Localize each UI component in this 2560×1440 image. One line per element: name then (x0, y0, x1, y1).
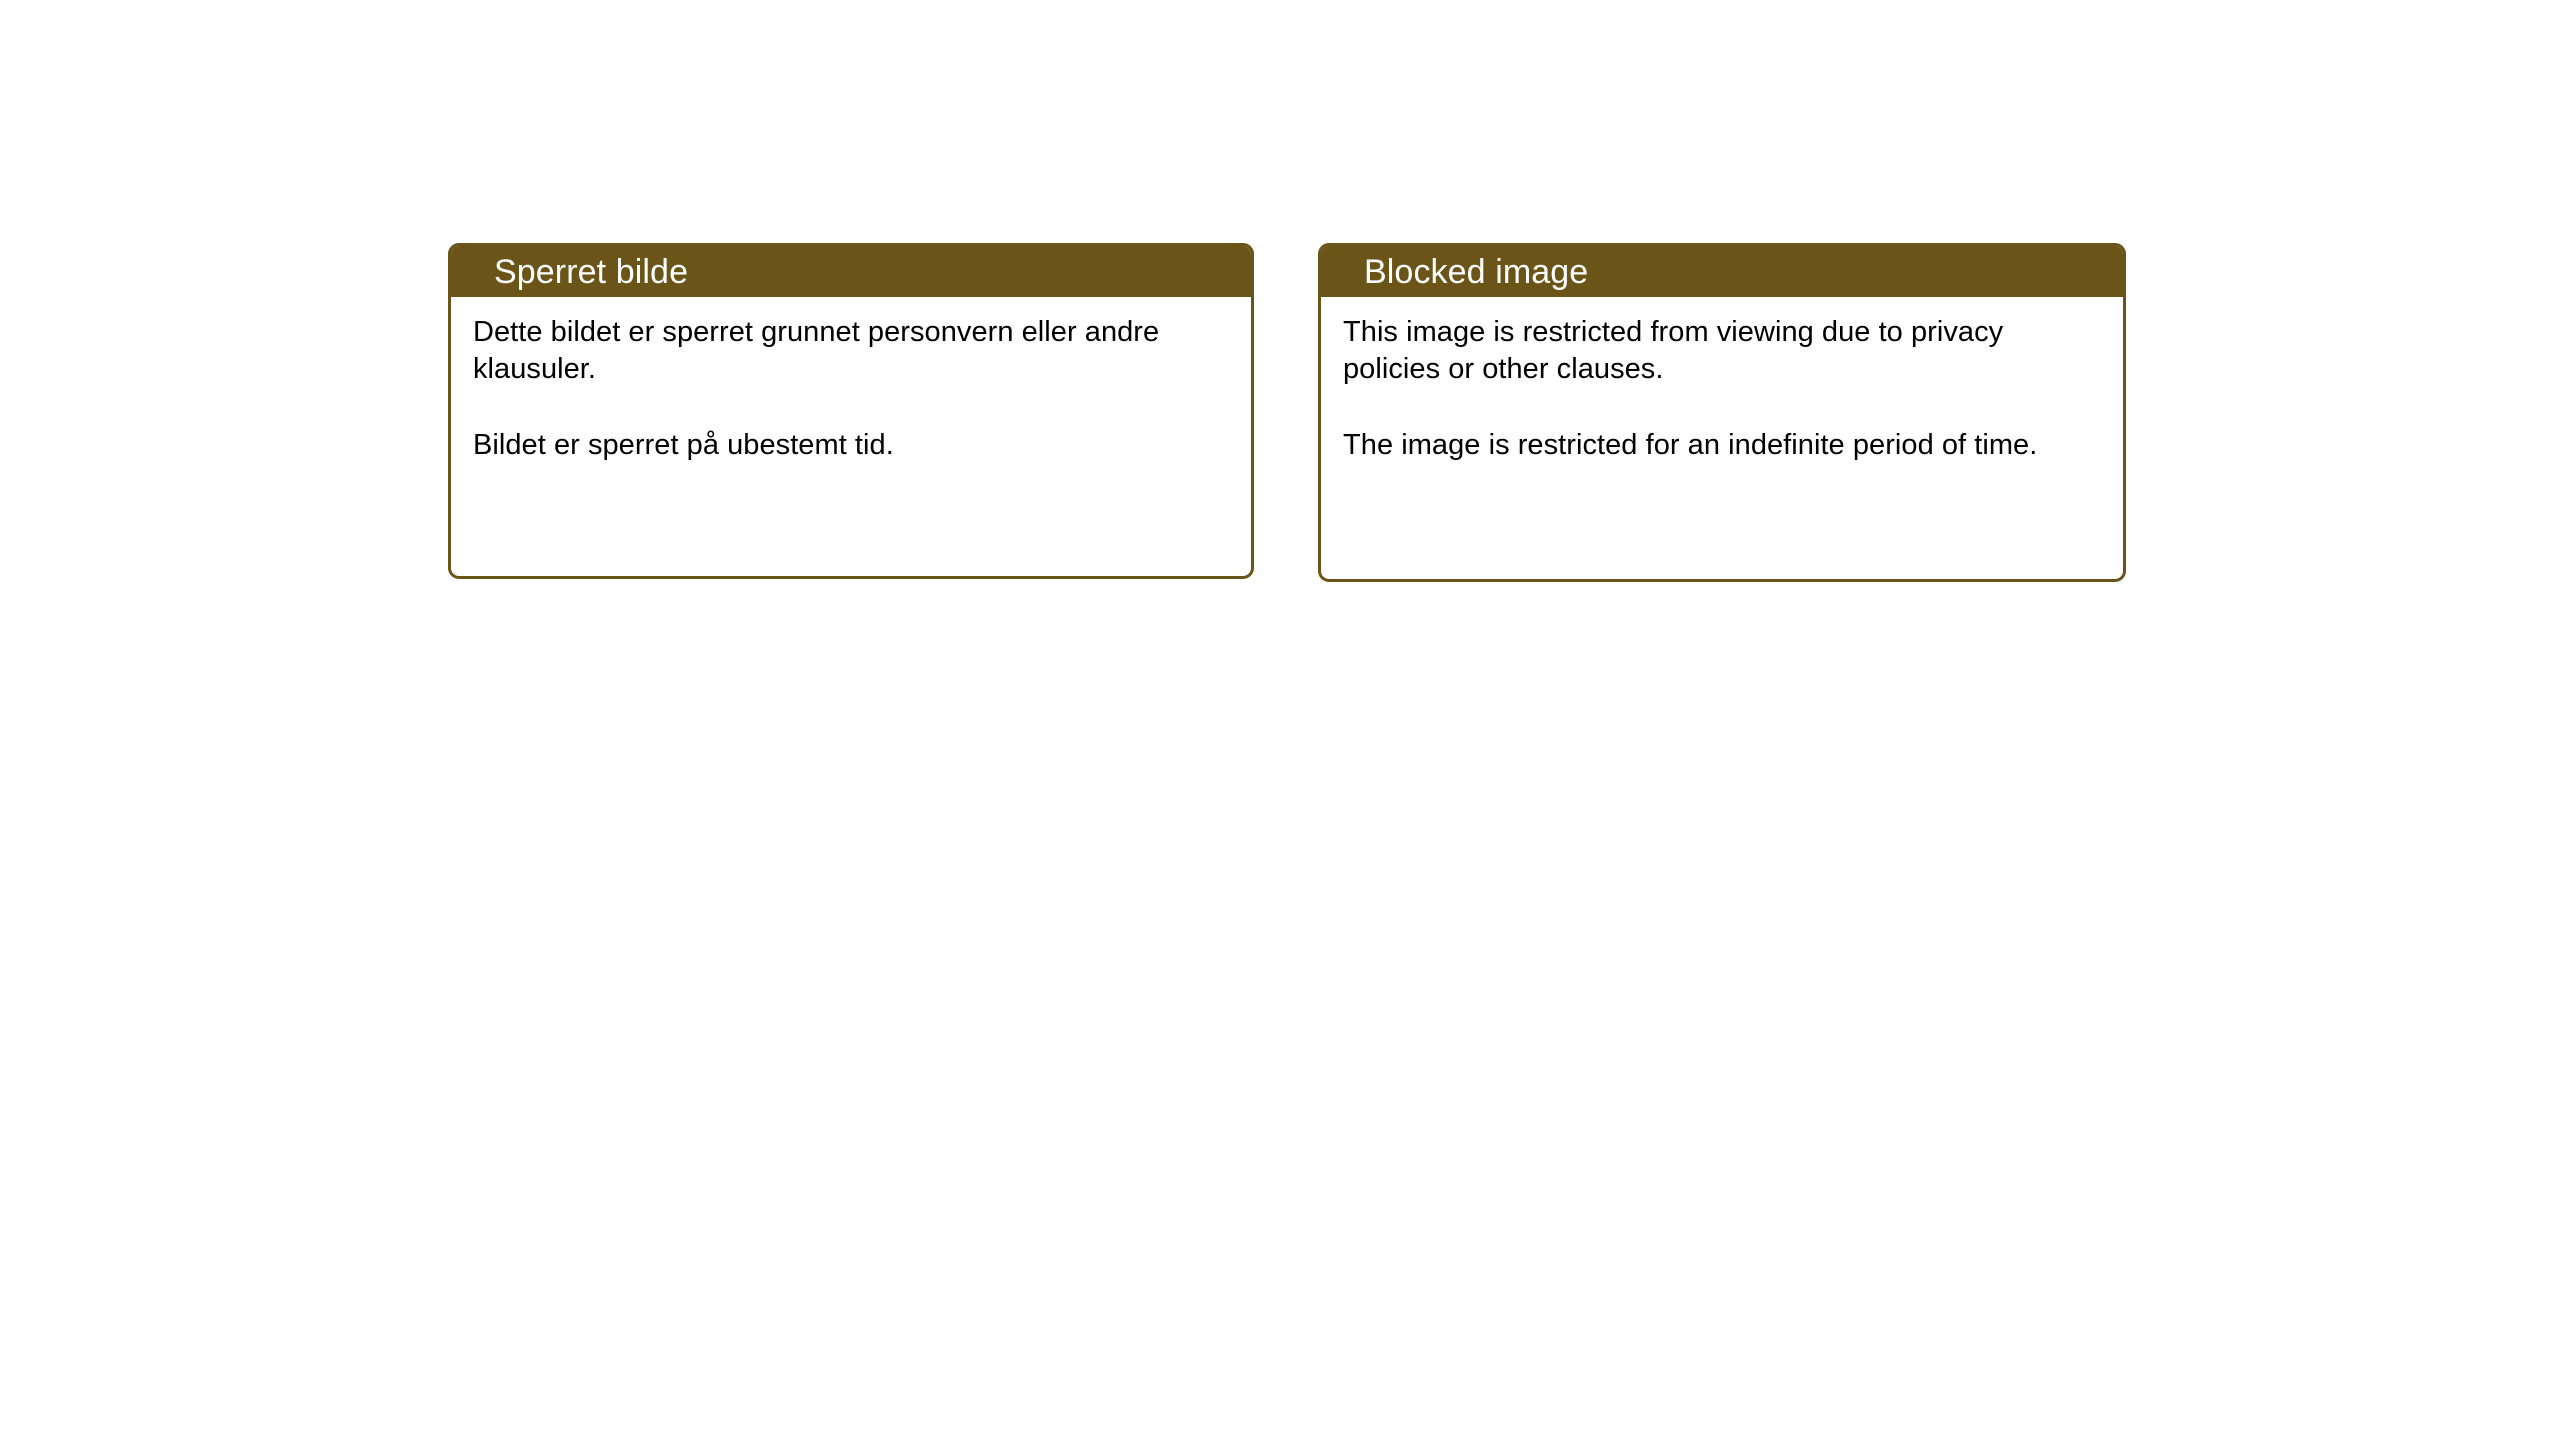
blocked-image-notice-no: Sperret bilde Dette bildet er sperret gr… (448, 243, 1254, 579)
blocked-image-notice-en: Blocked image This image is restricted f… (1318, 243, 2126, 582)
notice-paragraph-primary-en: This image is restricted from viewing du… (1343, 314, 2101, 389)
notice-paragraph-primary-no: Dette bildet er sperret grunnet personve… (473, 314, 1229, 389)
panel-title-en: Blocked image (1341, 255, 1588, 289)
panel-header-en: Blocked image (1318, 243, 2126, 297)
panel-body-no: Dette bildet er sperret grunnet personve… (451, 297, 1251, 464)
panel-title-no: Sperret bilde (471, 255, 688, 289)
panel-body-en: This image is restricted from viewing du… (1321, 297, 2123, 464)
panel-header-no: Sperret bilde (448, 243, 1254, 297)
notice-paragraph-secondary-en: The image is restricted for an indefinit… (1343, 427, 2101, 464)
page-root: { "theme": { "page_background": "#ffffff… (0, 0, 2560, 1440)
notice-paragraph-secondary-no: Bildet er sperret på ubestemt tid. (473, 427, 1229, 464)
